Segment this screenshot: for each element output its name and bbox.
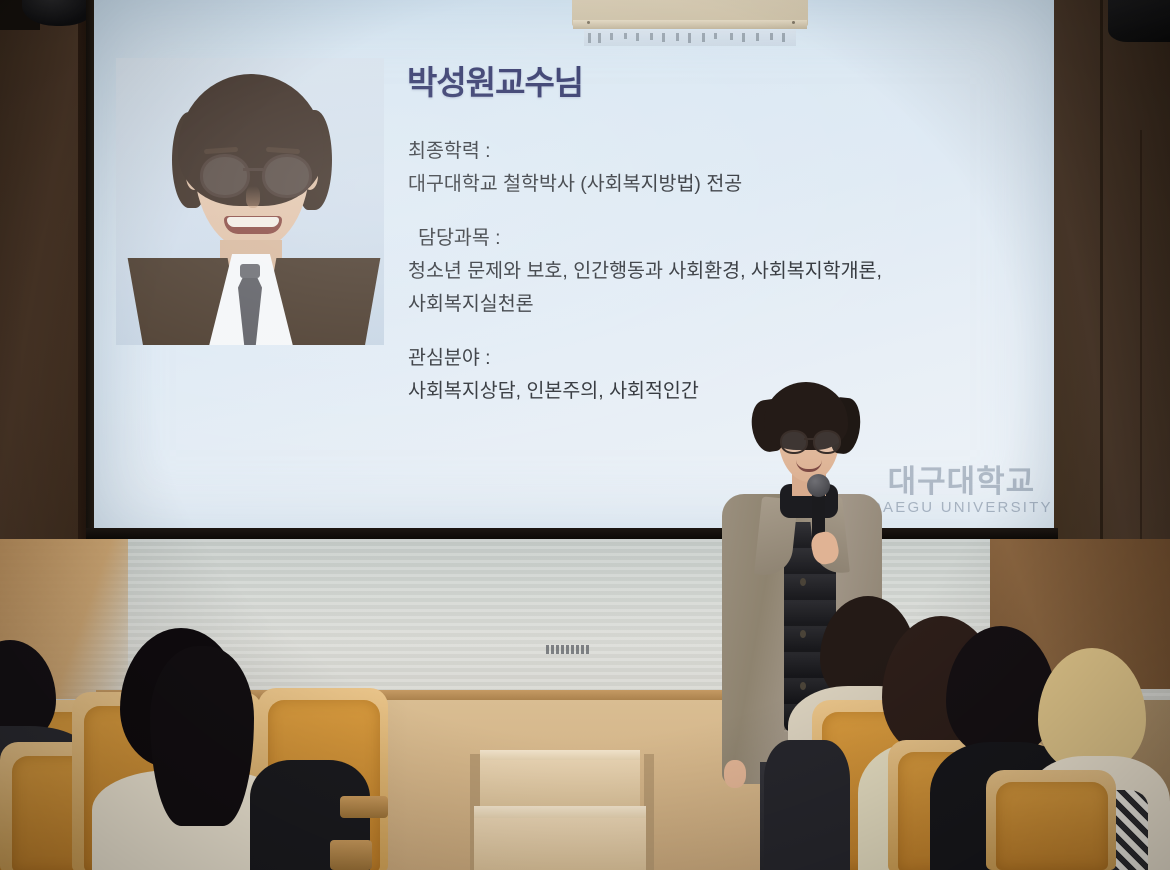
slide-title: 박성원교수님 (407, 56, 583, 104)
portrait-teeth (227, 217, 279, 227)
presenter-coat-button-2 (800, 630, 806, 638)
courses-heading: 담당과목 : (408, 222, 1028, 255)
interests-heading: 관심분야 : (408, 342, 1028, 375)
presenter-glasses-left-icon (780, 430, 808, 454)
armrest-left-2[interactable] (330, 840, 372, 870)
education-line-1: 대구대학교 철학박사 (사회복지방법) 전공 (408, 168, 1028, 201)
armrest-left[interactable] (340, 796, 388, 818)
portrait-glasses-bridge (243, 168, 263, 171)
portrait-mouth (224, 216, 282, 234)
presenter-coat-button-1 (800, 578, 806, 586)
portrait-nose (246, 186, 260, 208)
ceiling-speaker-right-icon (1108, 0, 1170, 42)
right-wall-panel (1053, 0, 1170, 556)
screen-frame-bottom (86, 528, 1058, 539)
step-riser-upper (480, 760, 640, 808)
lectern-screw-left-icon (587, 21, 590, 24)
presenter-hand-left (724, 760, 746, 788)
backdrop-small-sign (546, 645, 590, 654)
courses-line-2: 사회복지실천론 (408, 288, 1028, 321)
projection-screen: 박성원교수님 최종학력 : 대구대학교 철학박사 (사회복지방법) 전공 담당과… (92, 0, 1054, 534)
presenter-glasses-right-icon (813, 430, 841, 454)
overhead-lectern-slats (584, 30, 796, 46)
step-top-upper (480, 750, 640, 760)
audience-shoulders-right-0b (764, 740, 850, 870)
right-wall-seam (1100, 0, 1103, 556)
portrait-photo (116, 58, 384, 345)
slide-block-courses: 담당과목 : 청소년 문제와 보호, 인간행동과 사회환경, 사회복지학개론, … (408, 222, 1028, 321)
presenter-coat-button-3 (800, 682, 806, 690)
portrait-tie-knot (240, 264, 260, 278)
presenter-glasses-bridge (804, 438, 814, 440)
step-top-lower (474, 806, 646, 818)
lectern-screw-right-icon (792, 21, 795, 24)
lecture-hall-photo: 박성원교수님 최종학력 : 대구대학교 철학박사 (사회복지방법) 전공 담당과… (0, 0, 1170, 870)
stage-steps (472, 746, 652, 870)
overhead-lectern-rail (573, 20, 807, 29)
portrait-glasses-right-icon (262, 154, 312, 198)
slide-block-education: 최종학력 : 대구대학교 철학박사 (사회복지방법) 전공 (408, 135, 1028, 201)
right-wall-door-seam (1140, 130, 1142, 550)
screen-frame-left (86, 0, 94, 534)
seat-cushion-right-2[interactable] (996, 782, 1108, 870)
step-riser-lower (474, 818, 646, 870)
audience-hair-left-1 (150, 646, 254, 826)
microphone-head-icon (807, 474, 830, 497)
courses-line-1: 청소년 문제와 보호, 인간행동과 사회환경, 사회복지학개론, (408, 255, 1028, 288)
portrait-glasses-left-icon (200, 154, 250, 198)
education-heading: 최종학력 : (408, 135, 1028, 168)
